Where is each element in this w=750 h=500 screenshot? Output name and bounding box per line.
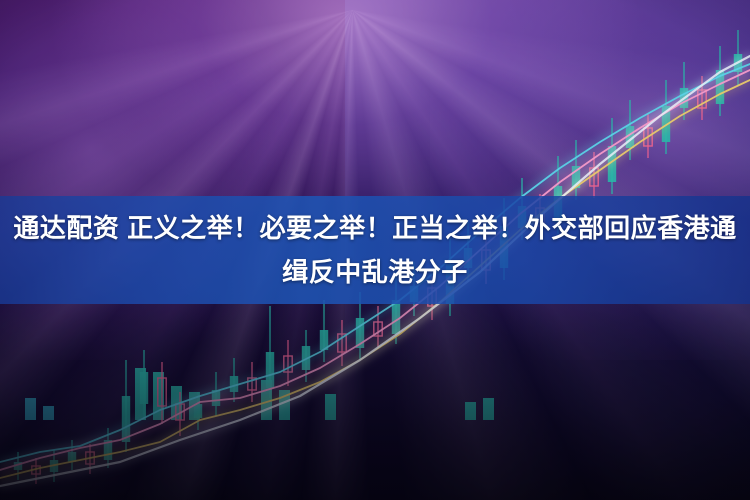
headline-text: 通达配资 正义之举！必要之举！正当之举！外交部回应香港通缉反中乱港分子 xyxy=(10,206,740,294)
headline-banner: 通达配资 正义之举！必要之举！正当之举！外交部回应香港通缉反中乱港分子 xyxy=(0,196,750,304)
banner-image: 通达配资 正义之举！必要之举！正当之举！外交部回应香港通缉反中乱港分子 xyxy=(0,0,750,500)
